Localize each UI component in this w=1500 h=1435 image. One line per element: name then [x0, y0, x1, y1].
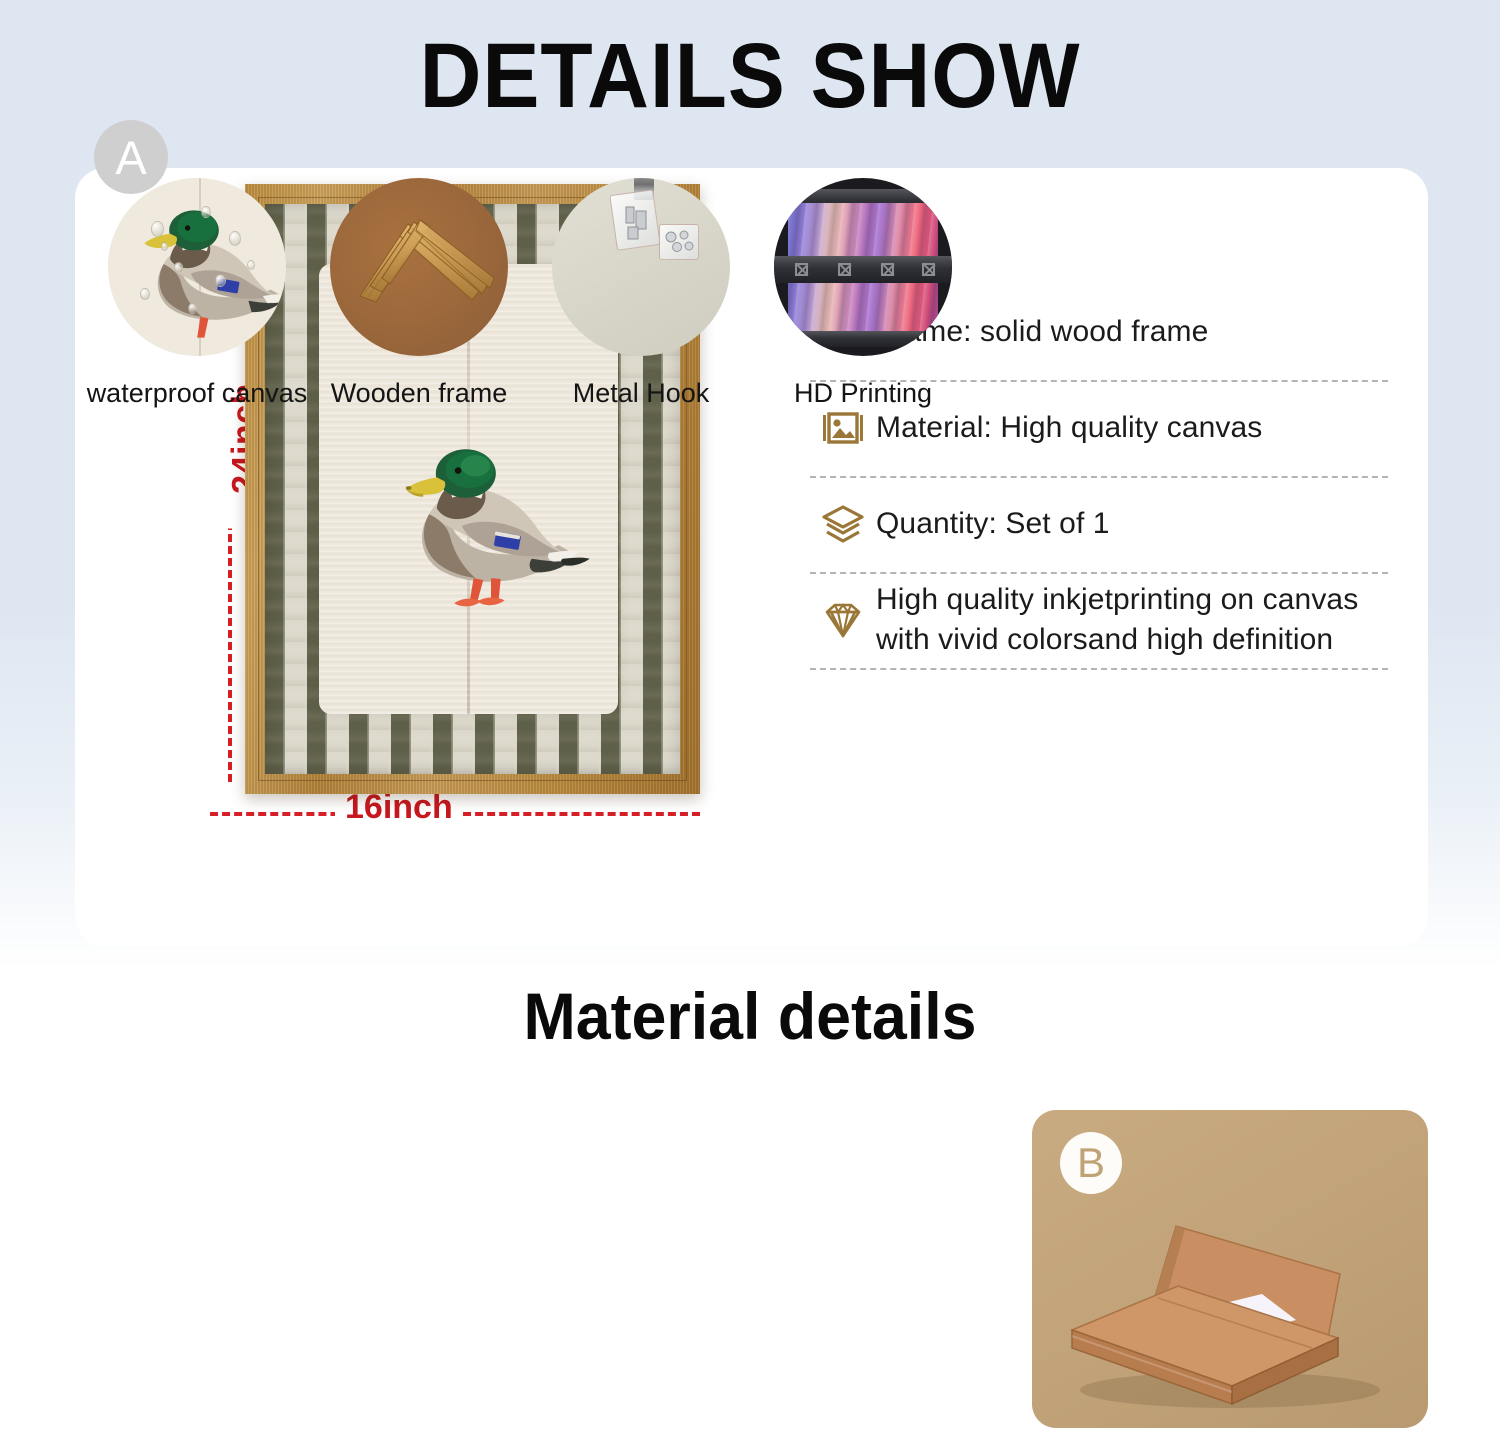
wooden-frame-image: [330, 178, 508, 356]
section-title: Material details: [38, 978, 1463, 1054]
thumbnail-label: HD Printing: [794, 378, 932, 409]
thumbnail-hd-printing[interactable]: HD Printing: [752, 178, 974, 409]
hd-printing-image: [774, 178, 952, 356]
page-title: DETAILS SHOW: [53, 30, 1448, 122]
badge-b: B: [1060, 1132, 1122, 1194]
thumbnail-row: waterproof canvas: [86, 178, 974, 409]
waterproof-canvas-image: [108, 178, 286, 356]
thumbnail-label: Wooden frame: [331, 378, 508, 409]
feature-item-quantity: Quantity: Set of 1: [810, 478, 1388, 572]
material-group-a: A: [86, 120, 976, 450]
feature-label: High quality inkjetprinting on canvas wi…: [876, 580, 1388, 659]
thumbnail-label: Metal Hook: [573, 378, 710, 409]
diamond-icon: [810, 598, 876, 642]
feature-divider: [810, 668, 1388, 670]
thumbnail-metal-hook[interactable]: Metal Hook: [530, 178, 752, 409]
thumbnail-waterproof-canvas[interactable]: waterproof canvas: [86, 178, 308, 409]
thumbnail-label: waterproof canvas: [87, 378, 308, 409]
feature-label: Quantity: Set of 1: [876, 504, 1110, 544]
thumbnail-wooden-frame[interactable]: Wooden frame: [308, 178, 530, 409]
packaging-box-image: [1050, 1168, 1412, 1418]
feature-item-printing: High quality inkjetprinting on canvas wi…: [810, 574, 1388, 668]
layers-icon: [810, 503, 876, 545]
material-group-b: B: [1032, 1110, 1428, 1428]
metal-hook-image: [552, 178, 730, 356]
